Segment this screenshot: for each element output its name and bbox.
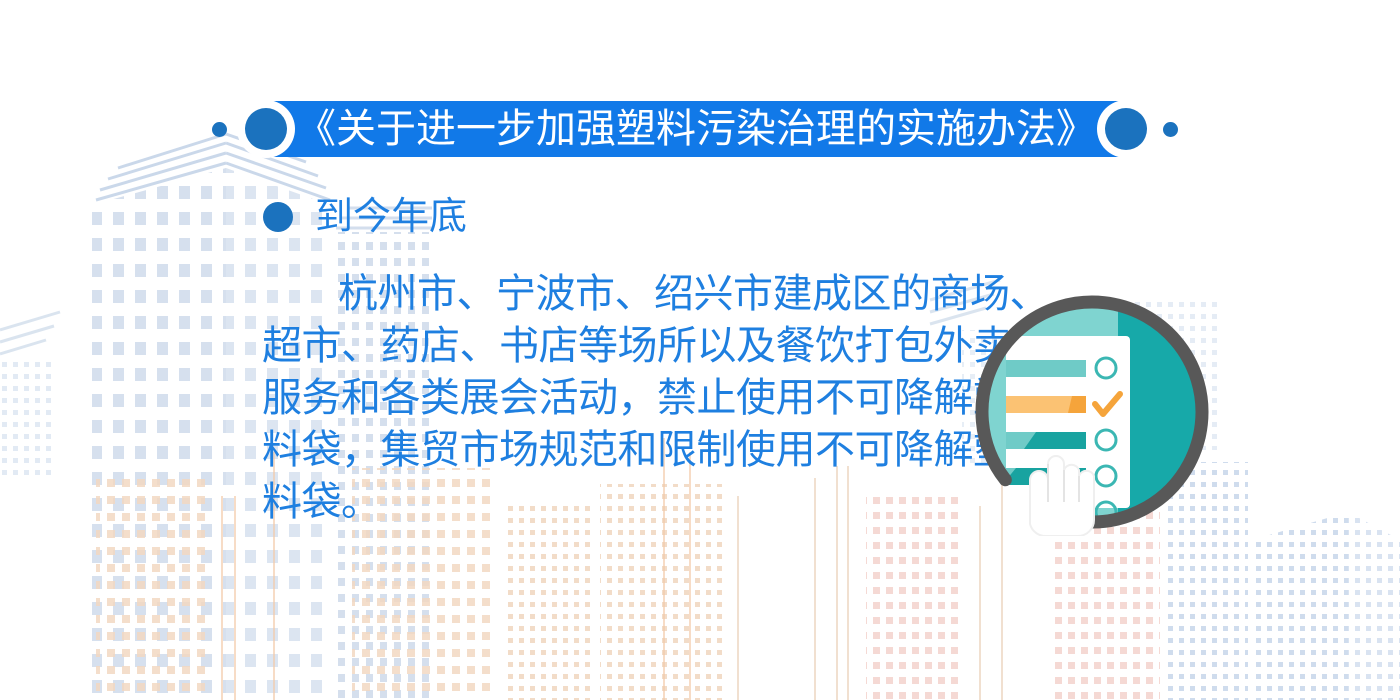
title-dot-large-left: [245, 108, 287, 150]
body-line: 杭州市、宁波市、绍兴市建成区的商场、: [262, 268, 974, 320]
section-heading-row: 到今年底: [263, 198, 467, 236]
title-banner: 《关于进一步加强塑料污染治理的实施办法》: [266, 101, 1126, 157]
checklist-svg: [968, 288, 1216, 536]
body-copy: 杭州市、宁波市、绍兴市建成区的商场、 超市、药店、书店等场所以及餐饮打包外卖 服…: [262, 268, 974, 528]
rooftop-strokes-left: [0, 312, 60, 354]
building-far-left-edge: [0, 360, 54, 480]
title-dot-small-left: [212, 122, 227, 137]
poster-canvas: 《关于进一步加强塑料污染治理的实施办法》 到今年底 杭州市、宁波市、绍兴市建成区…: [0, 0, 1400, 700]
body-line: 超市、药店、书店等场所以及餐饮打包外卖: [262, 320, 974, 372]
body-line: 服务和各类展会活动，禁止使用不可降解塑: [262, 372, 974, 424]
title-row: 《关于进一步加强塑料污染治理的实施办法》: [212, 98, 1178, 160]
body-line: 料袋，集贸市场规范和限制使用不可降解塑: [262, 424, 974, 476]
section-bullet-icon: [263, 202, 293, 232]
checklist-illustration: [968, 288, 1216, 536]
title-dot-large-right: [1105, 108, 1147, 150]
title-dot-small-right: [1163, 122, 1178, 137]
page-title: 《关于进一步加强塑料污染治理的实施办法》: [296, 109, 1096, 149]
body-line: 料袋。: [262, 476, 974, 528]
section-heading: 到今年底: [315, 198, 467, 236]
